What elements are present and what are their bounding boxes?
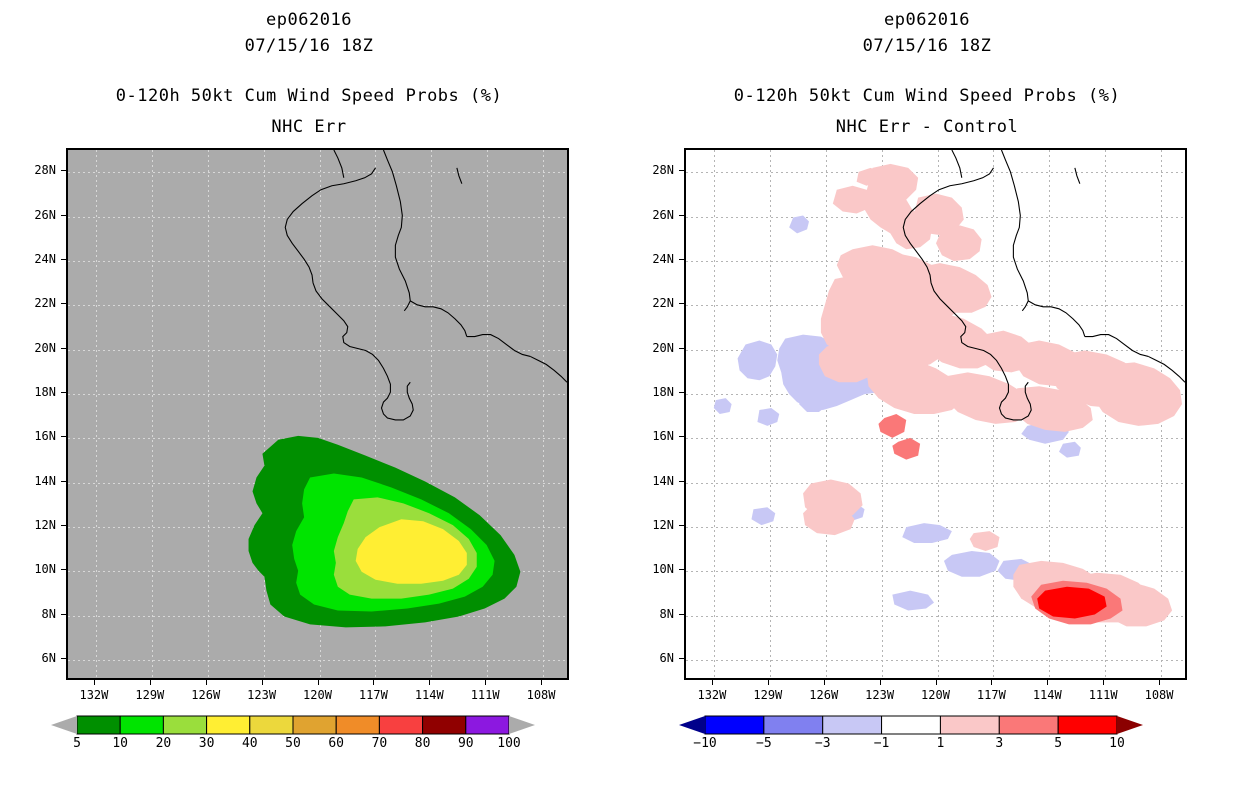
left-colorbar-tick-label: 90 <box>458 736 474 751</box>
x-axis-tick <box>429 680 430 685</box>
left-colorbar-tick-label: 100 <box>497 736 520 751</box>
right-colorbar-tick-label: 1 <box>937 736 945 751</box>
x-axis-tick <box>485 680 486 685</box>
y-axis-tick-label: 16N <box>2 429 56 443</box>
y-axis-tick-label: 10N <box>620 562 674 576</box>
x-axis-tick-label: 108W <box>527 688 556 702</box>
left-colorbar-swatch <box>207 716 250 734</box>
left-colorbar-swatch <box>77 716 120 734</box>
panel-right-subtitle: NHC Err - Control <box>618 117 1236 137</box>
panel-left-title: 0-120h 50kt Cum Wind Speed Probs (%) <box>0 86 618 106</box>
right-colorbar-over-arrow <box>1117 716 1143 734</box>
y-axis-tick-label: 24N <box>2 252 56 266</box>
y-axis-tick-label: 14N <box>2 474 56 488</box>
panel-left-y-axis: 6N8N10N12N14N16N18N20N22N24N26N28N <box>0 148 66 680</box>
panel-right-y-axis: 6N8N10N12N14N16N18N20N22N24N26N28N <box>618 148 684 680</box>
y-axis-tick-label: 6N <box>2 651 56 665</box>
right-colorbar-under-arrow <box>679 716 705 734</box>
panel-right-plot-area <box>684 148 1187 680</box>
right-colorbar-swatch <box>940 716 999 734</box>
x-axis-tick <box>991 680 992 685</box>
y-axis-tick-label: 20N <box>2 341 56 355</box>
x-axis-tick-label: 114W <box>415 688 444 702</box>
x-axis-tick <box>880 680 881 685</box>
right-colorbar-tick-label: 5 <box>1054 736 1062 751</box>
y-axis-tick-label: 12N <box>2 518 56 532</box>
x-axis-tick <box>373 680 374 685</box>
x-axis-tick-label: 111W <box>471 688 500 702</box>
left-colorbar-tick-label: 70 <box>372 736 388 751</box>
left-colorbar-tick-label: 80 <box>415 736 431 751</box>
x-axis-tick <box>94 680 95 685</box>
coastline-baja-california <box>285 150 567 420</box>
left-colorbar-tick-label: 50 <box>285 736 301 751</box>
panel-right-colorbar <box>618 712 1236 738</box>
x-axis-tick-label: 117W <box>359 688 388 702</box>
right-colorbar-tick-label: −5 <box>756 736 772 751</box>
y-axis-tick-label: 20N <box>620 341 674 355</box>
panel-right-difference-map <box>686 150 1185 678</box>
panel-left-colorbar <box>0 712 618 738</box>
right-colorbar-swatch <box>764 716 823 734</box>
x-axis-tick-label: 120W <box>921 688 950 702</box>
right-colorbar-swatch <box>882 716 941 734</box>
panel-left-plot-area <box>66 148 569 680</box>
right-colorbar-tick-label: 3 <box>995 736 1003 751</box>
x-axis-tick <box>1159 680 1160 685</box>
left-colorbar-swatch <box>250 716 293 734</box>
x-axis-tick <box>1047 680 1048 685</box>
right-colorbar-tick-label: 10 <box>1109 736 1125 751</box>
left-colorbar-swatch <box>466 716 509 734</box>
x-axis-tick-label: 129W <box>135 688 164 702</box>
y-axis-tick-label: 14N <box>620 474 674 488</box>
x-axis-tick <box>150 680 151 685</box>
x-axis-tick-label: 132W <box>79 688 108 702</box>
x-axis-tick-label: 114W <box>1033 688 1062 702</box>
y-axis-tick-label: 10N <box>2 562 56 576</box>
panel-nhc-err-minus-control: ep062016 07/15/16 18Z 0-120h 50kt Cum Wi… <box>618 0 1236 800</box>
y-axis-tick-label: 22N <box>2 296 56 310</box>
x-axis-tick <box>262 680 263 685</box>
panel-right-storm-id: ep062016 <box>618 10 1236 30</box>
y-axis-tick-label: 18N <box>2 385 56 399</box>
right-colorbar-swatch <box>1058 716 1117 734</box>
left-colorbar-under-arrow <box>51 716 77 734</box>
x-axis-tick <box>824 680 825 685</box>
left-colorbar-swatch <box>120 716 163 734</box>
y-axis-tick-label: 18N <box>620 385 674 399</box>
panel-right-colorbar-labels: −10−5−3−113510 <box>618 736 1236 758</box>
panel-left-subtitle: NHC Err <box>0 117 618 137</box>
x-axis-tick-label: 111W <box>1089 688 1118 702</box>
x-axis-tick <box>936 680 937 685</box>
right-colorbar-swatch <box>823 716 882 734</box>
right-colorbar-tick-label: −10 <box>693 736 716 751</box>
panel-left-datetime: 07/15/16 18Z <box>0 36 618 56</box>
y-axis-tick-label: 26N <box>2 208 56 222</box>
y-axis-tick-label: 28N <box>620 163 674 177</box>
left-colorbar-tick-label: 30 <box>199 736 215 751</box>
right-colorbar-swatch <box>999 716 1058 734</box>
right-colorbar-swatch <box>705 716 764 734</box>
panel-right-x-axis: 132W129W126W123W120W117W114W111W108W <box>684 680 1187 710</box>
left-colorbar-tick-label: 20 <box>156 736 172 751</box>
panel-left-colorbar-labels: 5102030405060708090100 <box>0 736 618 758</box>
x-axis-tick-label: 132W <box>697 688 726 702</box>
x-axis-tick-label: 123W <box>247 688 276 702</box>
y-axis-tick-label: 26N <box>620 208 674 222</box>
x-axis-tick <box>1103 680 1104 685</box>
y-axis-tick-label: 8N <box>620 607 674 621</box>
left-colorbar-swatch <box>336 716 379 734</box>
x-axis-tick-label: 117W <box>977 688 1006 702</box>
x-axis-tick-label: 129W <box>753 688 782 702</box>
left-colorbar-swatch <box>163 716 206 734</box>
x-axis-tick-label: 108W <box>1145 688 1174 702</box>
left-colorbar-tick-label: 40 <box>242 736 258 751</box>
left-colorbar-tick-label: 60 <box>328 736 344 751</box>
left-colorbar-tick-label: 5 <box>73 736 81 751</box>
panel-right-title: 0-120h 50kt Cum Wind Speed Probs (%) <box>618 86 1236 106</box>
x-axis-tick <box>541 680 542 685</box>
x-axis-tick-label: 120W <box>303 688 332 702</box>
x-axis-tick <box>712 680 713 685</box>
y-axis-tick-label: 16N <box>620 429 674 443</box>
left-colorbar-tick-label: 10 <box>112 736 128 751</box>
y-axis-tick-label: 24N <box>620 252 674 266</box>
y-axis-tick-label: 8N <box>2 607 56 621</box>
x-axis-tick <box>206 680 207 685</box>
y-axis-tick-label: 6N <box>620 651 674 665</box>
x-axis-tick-label: 126W <box>809 688 838 702</box>
panel-left-storm-id: ep062016 <box>0 10 618 30</box>
panel-right-datetime: 07/15/16 18Z <box>618 36 1236 56</box>
x-axis-tick-label: 123W <box>865 688 894 702</box>
y-axis-tick-label: 28N <box>2 163 56 177</box>
right-colorbar-tick-label: −3 <box>815 736 831 751</box>
left-colorbar-swatch <box>293 716 336 734</box>
panel-left-x-axis: 132W129W126W123W120W117W114W111W108W <box>66 680 569 710</box>
x-axis-tick <box>318 680 319 685</box>
y-axis-tick-label: 22N <box>620 296 674 310</box>
left-colorbar-over-arrow <box>509 716 535 734</box>
right-colorbar-tick-label: −1 <box>874 736 890 751</box>
x-axis-tick-label: 126W <box>191 688 220 702</box>
x-axis-tick <box>768 680 769 685</box>
left-colorbar-swatch <box>379 716 422 734</box>
left-colorbar-swatch <box>423 716 466 734</box>
y-axis-tick-label: 12N <box>620 518 674 532</box>
panel-left-contour-map <box>68 150 567 678</box>
panel-nhc-err: ep062016 07/15/16 18Z 0-120h 50kt Cum Wi… <box>0 0 618 800</box>
